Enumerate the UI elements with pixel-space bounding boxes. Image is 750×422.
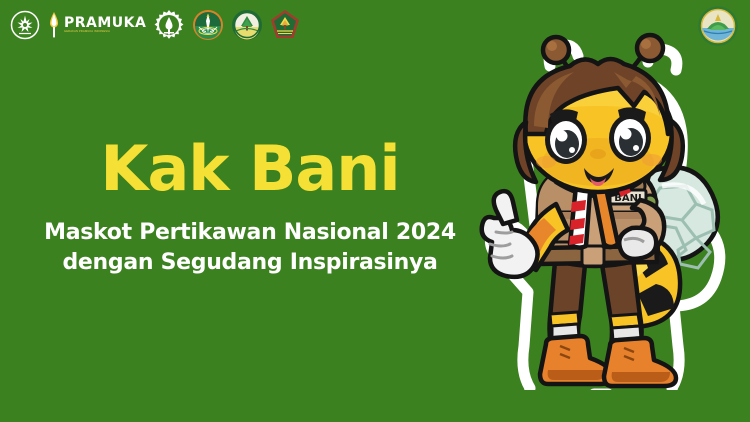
pramuka-wordmark-text: PRAMUKA [64,16,146,30]
page-subtitle: Maskot Pertikawan Nasional 2024 dengan S… [0,218,500,279]
subtitle-line-2: dengan Segudang Inspirasinya [62,250,437,275]
world-scout-emblem-logo [10,10,40,40]
boots [540,336,676,386]
kak-bani-bee-mascot: .ol{stroke:#141414;stroke-width:4.5;stro… [464,22,732,390]
pramuka-tagline-text: GERAKAN PRAMUKA INDONESIA [64,31,146,34]
subtitle-line-1: Maskot Pertikawan Nasional 2024 [44,220,456,245]
poster-canvas: PRAMUKA GERAKAN PRAMUKA INDONESIA [0,0,750,422]
saka-wanabakti-logo [231,9,263,41]
pramuka-wordmark-logo: PRAMUKA GERAKAN PRAMUKA INDONESIA [47,10,146,40]
kementerian-lhk-logo [192,9,224,41]
kwarnas-pramuka-logo [153,9,185,41]
page-title: Kak Bani [0,138,500,200]
saka-kalpataru-logo [270,9,300,41]
logo-bar: PRAMUKA GERAKAN PRAMUKA INDONESIA [10,7,300,43]
headline-block: Kak Bani Maskot Pertikawan Nasional 2024… [0,138,500,279]
